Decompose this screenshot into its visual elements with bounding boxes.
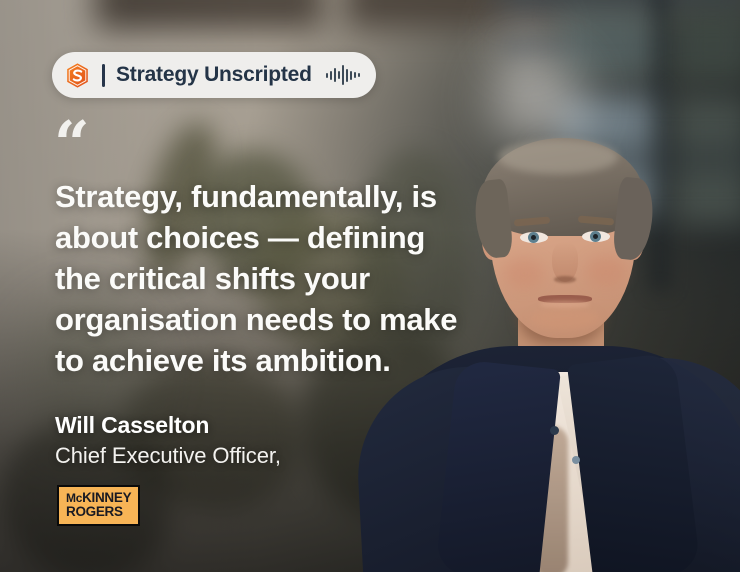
cheek-right — [586, 256, 626, 286]
chin — [530, 308, 600, 330]
hair-side-right — [612, 176, 656, 261]
quote-line: to achieve its ambition. — [55, 340, 475, 381]
attribution-block: Will Casselton Chief Executive Officer, — [55, 410, 415, 472]
quote-line: about choices — defining — [55, 217, 475, 258]
pill-separator — [102, 64, 105, 87]
nostril — [554, 276, 576, 283]
jacket-lapel-left — [435, 359, 561, 572]
lower-lip — [540, 301, 590, 308]
company-logo-line2: ROGERS — [66, 505, 131, 519]
podcast-brand-pill[interactable]: Strategy Unscripted — [52, 52, 376, 98]
quote-line: Strategy, fundamentally, is — [55, 176, 475, 217]
podcast-title: Strategy Unscripted — [116, 63, 312, 87]
company-logo-badge: McKINNEY ROGERS — [57, 485, 140, 526]
audio-waveform-icon — [326, 64, 360, 86]
hair-highlight — [498, 140, 618, 174]
quote-line: the critical shifts your — [55, 258, 475, 299]
cheek-left — [504, 258, 544, 288]
quote-mark-icon: “ — [54, 113, 88, 175]
quote-text: Strategy, fundamentally, isabout choices… — [55, 176, 475, 381]
speaker-role: Chief Executive Officer, — [55, 440, 415, 472]
pupil-right — [593, 234, 598, 239]
lapel-microphone — [550, 426, 559, 435]
shirt-button — [572, 456, 580, 464]
quote-line: organisation needs to make — [55, 299, 475, 340]
speaker-name: Will Casselton — [55, 410, 415, 440]
quote-card: Strategy Unscripted “ Strategy, fundamen… — [0, 0, 740, 572]
company-logo-line1: McKINNEY — [66, 491, 131, 505]
pupil-left — [531, 235, 536, 240]
hexagon-s-icon — [64, 62, 91, 89]
